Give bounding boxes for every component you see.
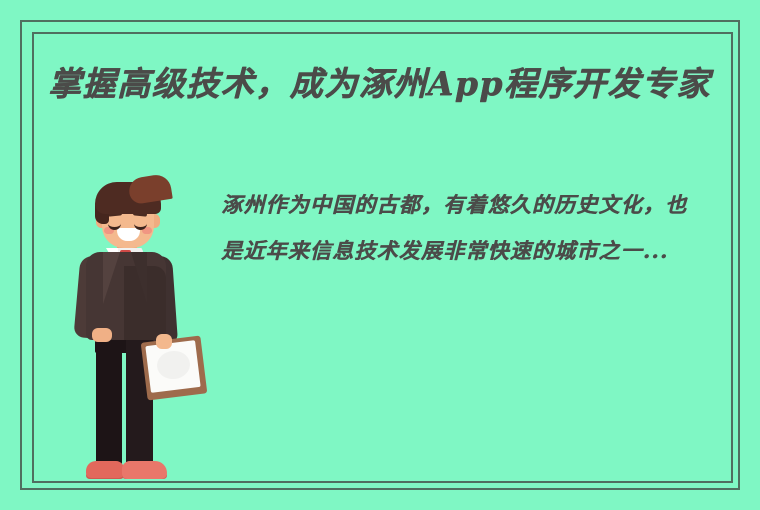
illustration-hand-left: [92, 328, 112, 342]
article-excerpt: 涿州作为中国的古都，有着悠久的历史文化，也是近年来信息技术发展非常快速的城市之一…: [221, 182, 691, 275]
article-poster: 掌握高级技术，成为涿州App程序开发专家 涿州作为中国的古都，有着悠久的历史文化…: [0, 0, 760, 510]
illustration-lapel-right: [131, 252, 147, 304]
illustration-shoe-left: [86, 461, 124, 478]
businessman-illustration: [62, 176, 212, 486]
illustration-hair-quiff: [127, 173, 173, 205]
page-title: 掌握高级技术，成为涿州App程序开发专家: [48, 56, 735, 113]
illustration-shoe-right: [122, 461, 167, 479]
illustration-hand-right: [156, 334, 172, 349]
illustration-leg-left: [96, 326, 122, 471]
content-stage: 掌握高级技术，成为涿州App程序开发专家 涿州作为中国的古都，有着悠久的历史文化…: [0, 0, 735, 510]
illustration-lapel-left: [103, 252, 120, 304]
